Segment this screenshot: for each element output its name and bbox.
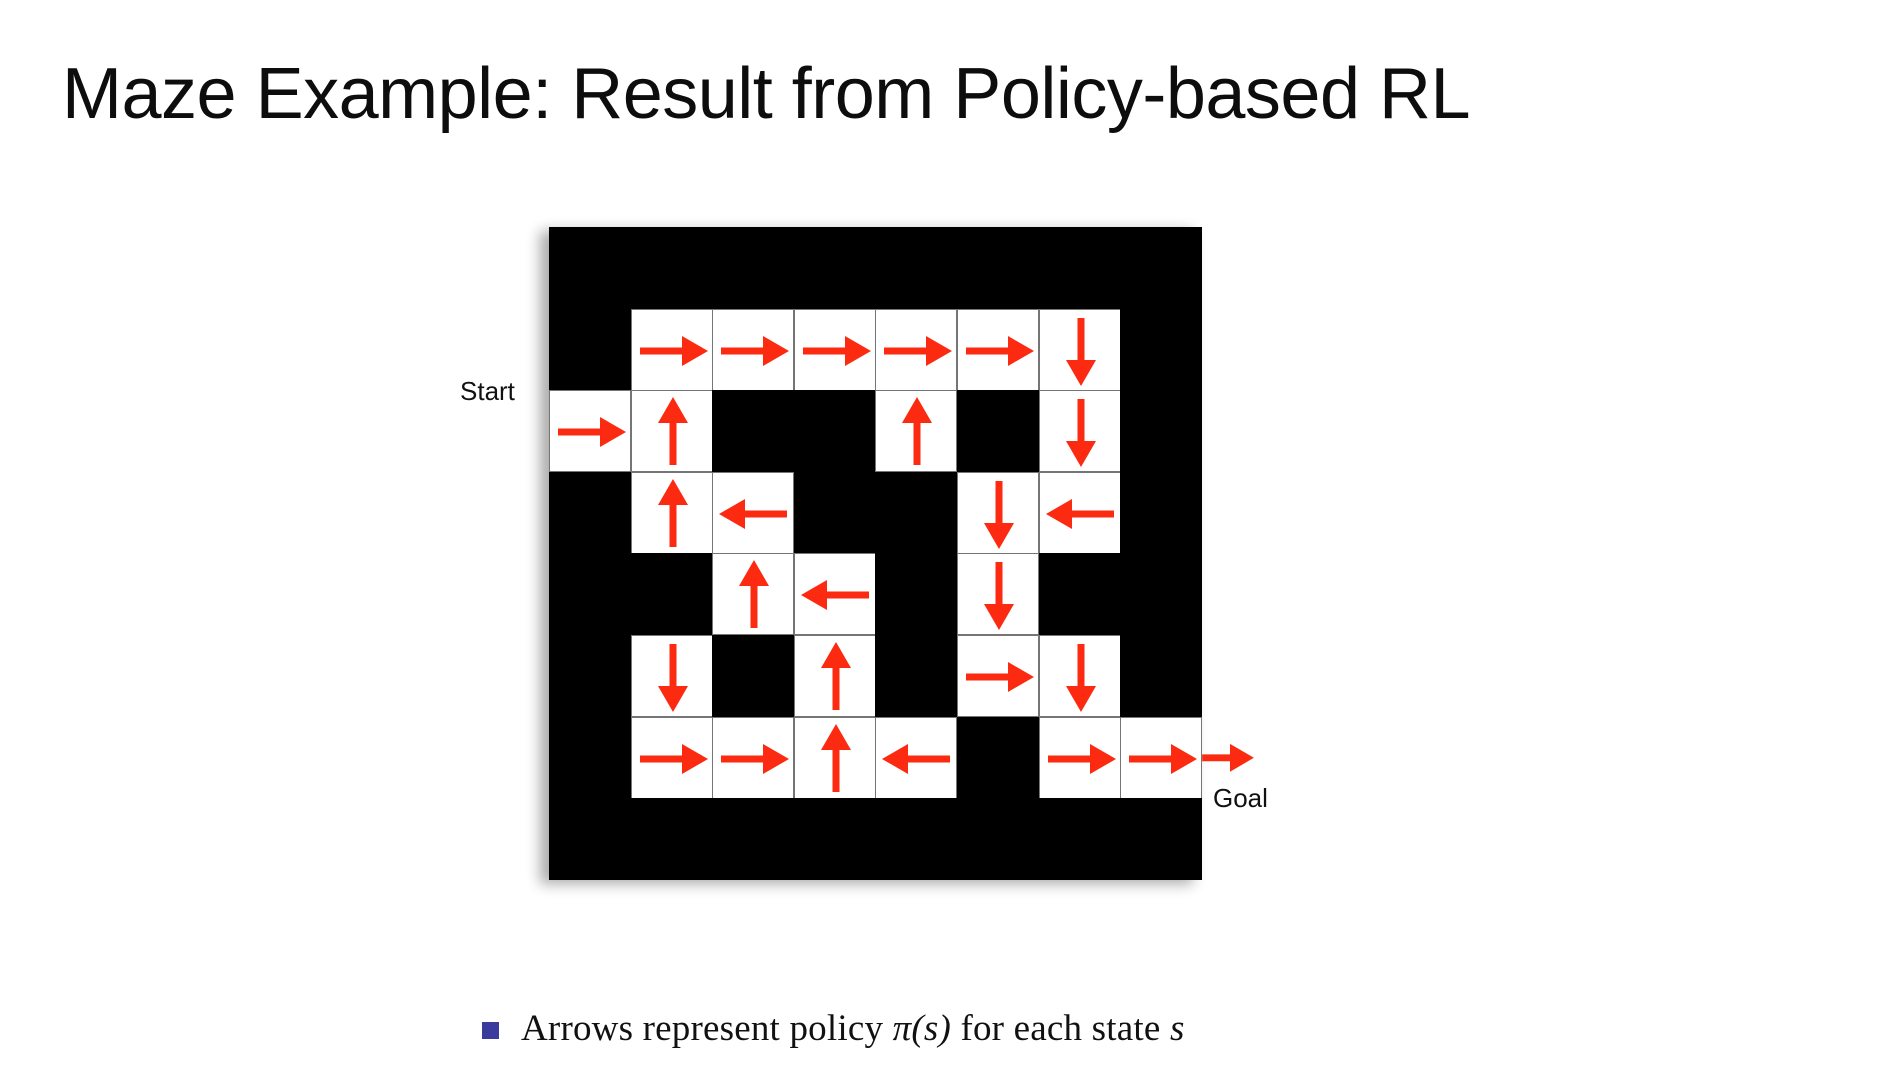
maze-cell-arrow-up [631, 390, 713, 472]
maze-cell-arrow-down [631, 635, 713, 717]
maze-cell-wall [549, 227, 631, 309]
maze-cell-wall [957, 227, 1039, 309]
maze-cell-wall [549, 553, 631, 635]
maze-cell-wall [875, 553, 957, 635]
maze-cell-wall [1120, 227, 1202, 309]
maze-cell-wall [549, 798, 631, 880]
maze-cell-arrow-right [875, 309, 957, 391]
maze-cell-wall [1039, 798, 1121, 880]
bullet-square-icon [482, 1022, 499, 1039]
maze-cell-wall [1120, 390, 1202, 472]
maze-cell-arrow-up [794, 635, 876, 717]
maze-cell-arrow-right [1120, 717, 1202, 799]
maze-cell-wall [794, 227, 876, 309]
maze-cell-wall [712, 798, 794, 880]
goal-exit-arrow [1202, 717, 1264, 799]
start-entry-arrow [524, 390, 584, 472]
maze-cell-wall [1120, 472, 1202, 554]
maze-cell-wall [957, 717, 1039, 799]
maze-cell-arrow-up [875, 390, 957, 472]
maze-cell-wall [712, 227, 794, 309]
maze-cell-arrow-left [1039, 472, 1121, 554]
maze-cell-wall [957, 798, 1039, 880]
maze-grid [549, 227, 1202, 880]
maze-cell-wall [549, 309, 631, 391]
maze-cell-arrow-right [957, 635, 1039, 717]
maze-cell-arrow-left [875, 717, 957, 799]
maze-cell-arrow-up [631, 472, 713, 554]
maze-cell-arrow-right [794, 309, 876, 391]
maze-cell-wall [957, 390, 1039, 472]
maze-cell-wall [549, 635, 631, 717]
page-title: Maze Example: Result from Policy-based R… [62, 58, 1470, 130]
maze-cell-wall [631, 798, 713, 880]
maze-cell-wall [1120, 553, 1202, 635]
maze-cell-arrow-left [794, 553, 876, 635]
maze-cell-arrow-left [712, 472, 794, 554]
maze-cell-arrow-right [957, 309, 1039, 391]
maze-cell-arrow-down [1039, 635, 1121, 717]
maze-cell-arrow-right [712, 717, 794, 799]
maze-cell-wall [549, 717, 631, 799]
maze-cell-wall [875, 798, 957, 880]
maze-cell-wall [875, 227, 957, 309]
maze-cell-arrow-up [712, 553, 794, 635]
maze-cell-wall [712, 635, 794, 717]
maze-cell-wall [1120, 635, 1202, 717]
maze-cell-wall [631, 227, 713, 309]
maze-figure: Start Goal [0, 200, 1886, 840]
maze-cell-wall [549, 472, 631, 554]
maze-cell-wall [794, 390, 876, 472]
maze-cell-wall [875, 635, 957, 717]
maze-cell-arrow-down [957, 472, 1039, 554]
maze-cell-wall [875, 472, 957, 554]
start-label: Start [460, 376, 515, 407]
maze-board [549, 227, 1202, 880]
caption-legend: Arrows represent policy π(s) for each st… [482, 1007, 1185, 1050]
maze-cell-wall [1120, 798, 1202, 880]
maze-cell-wall [631, 553, 713, 635]
maze-cell-arrow-down [1039, 309, 1121, 391]
maze-cell-wall [1039, 227, 1121, 309]
maze-cell-wall [794, 472, 876, 554]
maze-cell-arrow-down [1039, 390, 1121, 472]
caption-text: Arrows represent policy π(s) for each st… [521, 1007, 1185, 1050]
maze-cell-arrow-right [631, 717, 713, 799]
maze-cell-wall [712, 390, 794, 472]
maze-cell-arrow-down [957, 553, 1039, 635]
maze-cell-wall [1120, 309, 1202, 391]
maze-cell-arrow-right [631, 309, 713, 391]
maze-cell-wall [794, 798, 876, 880]
maze-cell-arrow-right [1039, 717, 1121, 799]
maze-cell-wall [1039, 553, 1121, 635]
maze-cell-arrow-up [794, 717, 876, 799]
maze-cell-arrow-right [712, 309, 794, 391]
